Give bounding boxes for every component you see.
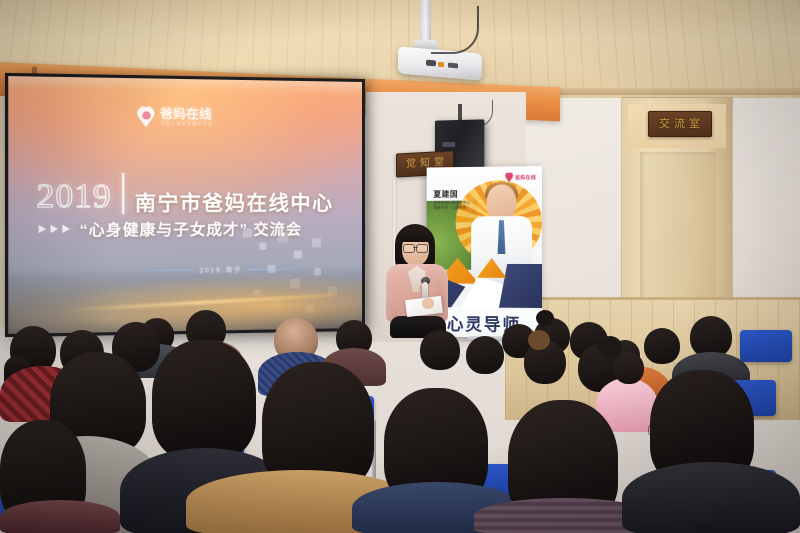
audience-group [0,0,800,533]
audience-head-child [614,352,644,384]
audience-head [466,336,504,374]
audience-hair-bun [598,336,622,358]
audience-shoulder [0,500,120,533]
audience-hair-bun [536,310,554,326]
conference-room-photo: 觉 知 堂 交 流 室 爸妈在线 全国心理关爱服务平台 2019 [0,0,800,533]
chair[interactable] [740,330,792,362]
audience-hair-bun [528,330,550,350]
audience-head [420,330,460,370]
audience-shoulder [622,462,800,533]
audience-head [644,328,680,364]
audience-head [152,340,256,460]
glasses-icon [648,424,672,436]
